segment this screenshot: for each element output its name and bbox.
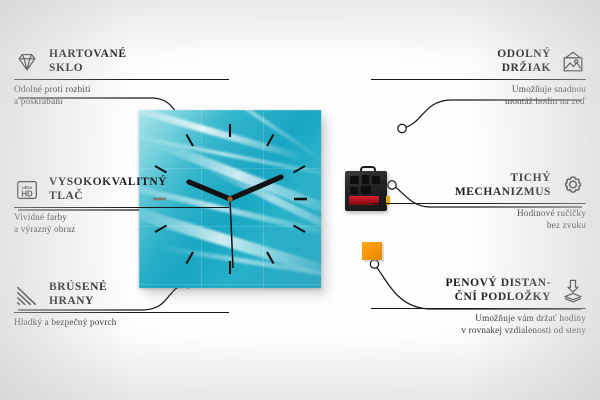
feature-print-desc-2: a výrazný obraz (14, 224, 229, 236)
feature-foam-desc-2: v rovnakej vzdialenosti od steny (371, 325, 586, 337)
feature-holder-desc-2: montáž hodin na zeď (371, 96, 586, 108)
feature-holder-head: ODOLNÝ DRŽIAK (371, 48, 586, 75)
feature-print-head: ultra HD VYSOKOKVALITNÝ TLAČ (14, 176, 229, 203)
feature-glass-desc-1: Odolné proti rozbití (14, 84, 229, 96)
feature-mechanism: TICHÝ MECHANIZMUS Hodinové ručičky bez z… (371, 172, 586, 231)
feature-divider (371, 203, 586, 204)
feature-divider (14, 312, 229, 313)
feature-mechanism-desc-1: Hodinové ručičky (371, 208, 586, 220)
clock-minute-hand (230, 177, 281, 199)
feature-divider (371, 308, 586, 309)
feature-edges-head: BRÚSENÉ HRANY (14, 281, 229, 308)
foam-spacer-pad-photo (362, 242, 382, 260)
clock-second-hand (230, 199, 233, 268)
feature-foam-title: PENOVÝ DISTAN- ČNÍ PODLOŽKY (445, 277, 551, 304)
svg-text:HD: HD (21, 189, 33, 198)
infographic-canvas: HARTOVANÉ SKLO Odolné proti rozbití a po… (0, 0, 600, 400)
feature-glass-title: HARTOVANÉ SKLO (49, 48, 127, 75)
feature-divider (371, 79, 586, 80)
feature-glass-head: HARTOVANÉ SKLO (14, 48, 229, 75)
connector-endpoint-holder (398, 124, 406, 132)
feature-print-desc-1: Vividné farby (14, 212, 229, 224)
feature-mechanism-head: TICHÝ MECHANIZMUS (371, 172, 586, 199)
foam-pad-press-icon (560, 278, 586, 304)
wall-frame-hanger-icon (560, 49, 586, 75)
feature-edges: BRÚSENÉ HRANY Hladký a bezpečný povrch (14, 281, 229, 329)
feature-print: ultra HD VYSOKOKVALITNÝ TLAČ Vividné far… (14, 176, 229, 235)
feature-divider (14, 207, 229, 208)
diamond-icon (14, 49, 40, 75)
gear-icon (560, 173, 586, 199)
feature-print-title: VYSOKOKVALITNÝ TLAČ (49, 176, 167, 203)
feature-holder: ODOLNÝ DRŽIAK Umožňuje snadnou montáž ho… (371, 48, 586, 107)
feature-mechanism-desc-2: bez zvuku (371, 220, 586, 232)
feature-mechanism-title: TICHÝ MECHANIZMUS (455, 172, 551, 199)
feature-edges-desc-1: Hladký a bezpečný povrch (14, 317, 229, 329)
ultra-hd-icon: ultra HD (14, 177, 40, 203)
feature-foam: PENOVÝ DISTAN- ČNÍ PODLOŽKY Umožňuje vám… (371, 277, 586, 336)
feature-holder-title: ODOLNÝ DRŽIAK (497, 48, 551, 75)
feature-edges-title: BRÚSENÉ HRANY (49, 281, 107, 308)
feature-glass-desc-2: a poškrábání (14, 96, 229, 108)
bevelled-edges-icon (14, 282, 40, 308)
feature-foam-head: PENOVÝ DISTAN- ČNÍ PODLOŽKY (371, 277, 586, 304)
feature-holder-desc-1: Umožňuje snadnou (371, 84, 586, 96)
feature-foam-desc-1: Umožňuje vám držať hodiny (371, 313, 586, 325)
feature-glass: HARTOVANÉ SKLO Odolné proti rozbití a po… (14, 48, 229, 107)
feature-divider (14, 79, 229, 80)
connector-endpoint-foam (370, 260, 378, 268)
